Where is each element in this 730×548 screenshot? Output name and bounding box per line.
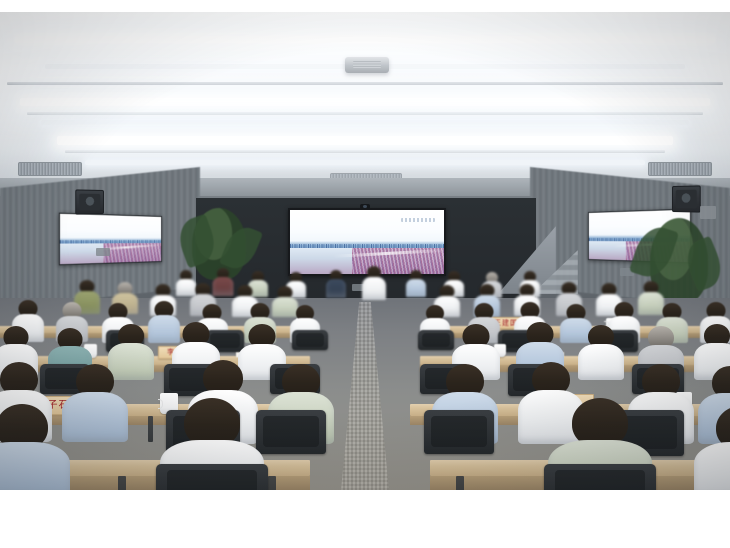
- chair[interactable]: [292, 330, 328, 350]
- conference-camera: [360, 204, 370, 209]
- led-strip-5: [57, 136, 673, 145]
- attendee: [694, 406, 730, 490]
- torso: [62, 392, 128, 442]
- torso: [326, 279, 346, 298]
- ceiling-rail-3: [65, 150, 665, 153]
- left-led-screen[interactable]: [59, 213, 162, 266]
- led-strip-1: [15, 36, 715, 43]
- wall-plate-left: [96, 248, 110, 256]
- seated-presenter-center: [362, 266, 386, 300]
- attendee: [406, 270, 426, 297]
- wall-sign: [700, 206, 716, 219]
- led-strip-4: [41, 120, 689, 125]
- attendee: [578, 325, 624, 380]
- torso: [694, 442, 730, 490]
- torso: [0, 442, 70, 490]
- chair[interactable]: [256, 410, 326, 454]
- conference-room-photo: 王建国: [0, 12, 730, 490]
- ceiling-vent-left: [18, 162, 82, 176]
- led-strip-3: [20, 98, 710, 106]
- desk-leg: [118, 476, 126, 490]
- ceiling-rail-1: [7, 82, 723, 85]
- ceiling-vent-right: [648, 162, 712, 176]
- desk-leg: [148, 416, 153, 442]
- attendee: [0, 404, 70, 490]
- screenshot-root: 王建国: [0, 0, 730, 548]
- attendee: [326, 270, 346, 298]
- screen-watermark: [401, 218, 435, 222]
- chair[interactable]: [418, 330, 454, 350]
- torso: [362, 277, 386, 300]
- chair[interactable]: [156, 464, 268, 490]
- chair[interactable]: [544, 464, 656, 490]
- desk-leg: [456, 476, 464, 490]
- chair[interactable]: [424, 410, 494, 454]
- ceiling-projector: [345, 57, 389, 73]
- ceiling-rail-2: [27, 112, 703, 115]
- desk-leg: [268, 476, 276, 490]
- led-strip-6: [85, 160, 645, 165]
- torso: [578, 344, 624, 380]
- attendee: [62, 364, 128, 442]
- wall-speaker-right: [672, 185, 701, 212]
- wall-speaker-left: [75, 189, 104, 214]
- torso: [406, 279, 426, 297]
